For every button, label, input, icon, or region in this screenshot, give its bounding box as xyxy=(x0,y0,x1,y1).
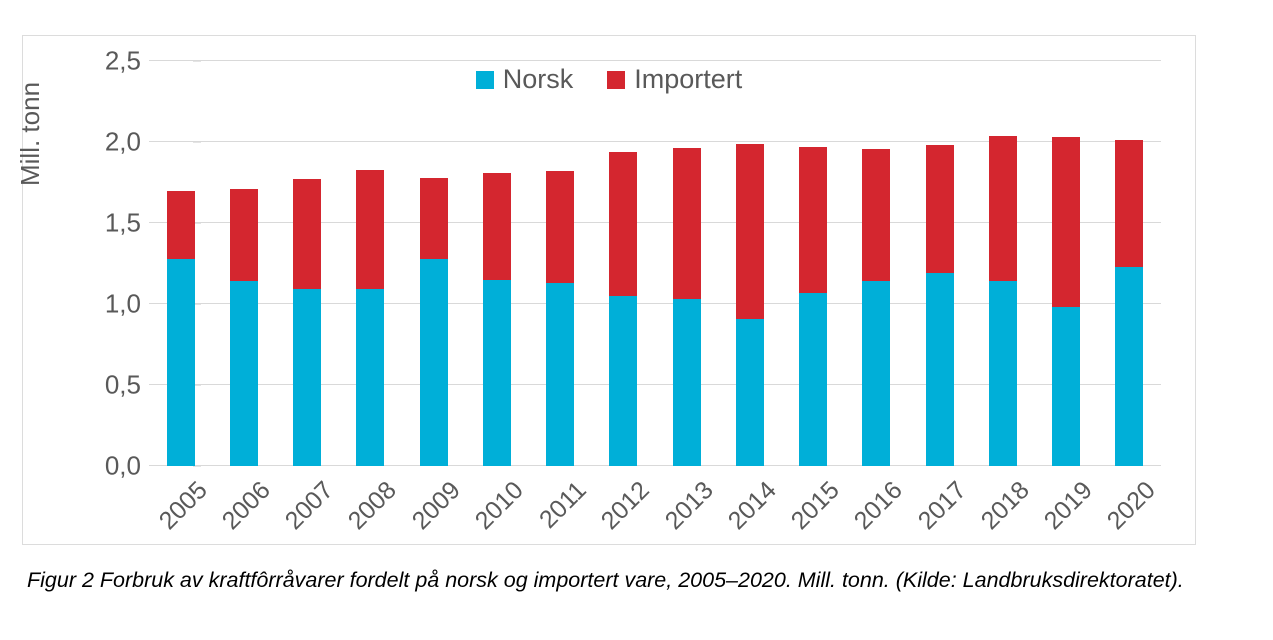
bar-segment-importert-2007[interactable] xyxy=(293,179,321,289)
x-tick-label-2015: 2015 xyxy=(786,476,846,536)
bar-group-2015[interactable] xyxy=(799,147,827,466)
y-axis-title: Mill. tonn xyxy=(15,82,46,186)
bar-group-2019[interactable] xyxy=(1052,137,1080,466)
bar-group-2007[interactable] xyxy=(293,179,321,466)
x-tick-label-2008: 2008 xyxy=(343,476,403,536)
x-tick-label-2014: 2014 xyxy=(723,476,783,536)
bar-segment-norsk-2011[interactable] xyxy=(546,283,574,466)
x-tick-label-2011: 2011 xyxy=(534,476,593,535)
x-tick-label-2020: 2020 xyxy=(1102,476,1162,536)
bar-segment-importert-2008[interactable] xyxy=(356,170,384,290)
x-tick-label-2007: 2007 xyxy=(280,476,340,536)
x-tick-label-2013: 2013 xyxy=(659,476,719,536)
bar-segment-norsk-2006[interactable] xyxy=(230,281,258,466)
bar-segment-importert-2010[interactable] xyxy=(483,173,511,280)
bar-segment-importert-2019[interactable] xyxy=(1052,137,1080,307)
x-tick-label-2018: 2018 xyxy=(976,476,1036,536)
bar-group-2005[interactable] xyxy=(167,191,195,466)
bar-group-2017[interactable] xyxy=(926,145,954,466)
bar-group-2006[interactable] xyxy=(230,189,258,466)
bar-segment-norsk-2012[interactable] xyxy=(609,296,637,466)
y-tick-label-0: 0,0 xyxy=(81,451,141,482)
x-tick-label-2010: 2010 xyxy=(470,476,530,536)
bar-segment-importert-2009[interactable] xyxy=(420,178,448,259)
bar-segment-norsk-2016[interactable] xyxy=(862,281,890,466)
y-tick-label-2: 1,0 xyxy=(81,289,141,320)
bar-segment-importert-2011[interactable] xyxy=(546,171,574,283)
x-tick-label-2006: 2006 xyxy=(217,476,277,536)
bar-segment-importert-2014[interactable] xyxy=(736,144,764,319)
bar-segment-importert-2006[interactable] xyxy=(230,189,258,281)
bar-segment-importert-2013[interactable] xyxy=(673,148,701,299)
bar-group-2012[interactable] xyxy=(609,152,637,466)
bar-segment-importert-2015[interactable] xyxy=(799,147,827,293)
bar-segment-norsk-2008[interactable] xyxy=(356,289,384,466)
y-axis-ticks: 0,00,51,01,52,02,5 xyxy=(75,61,141,466)
x-tick-label-2009: 2009 xyxy=(406,476,466,536)
figure-container: Norsk Importert Mill. tonn 0,00,51,01,52… xyxy=(0,0,1273,640)
gridline-2-5 xyxy=(149,60,1161,61)
bar-segment-norsk-2013[interactable] xyxy=(673,299,701,466)
bar-segment-norsk-2010[interactable] xyxy=(483,280,511,466)
bar-group-2016[interactable] xyxy=(862,149,890,467)
bar-segment-importert-2012[interactable] xyxy=(609,152,637,296)
bar-segment-importert-2020[interactable] xyxy=(1115,140,1143,266)
bar-segment-norsk-2009[interactable] xyxy=(420,259,448,466)
y-tick-label-5: 2,5 xyxy=(81,46,141,77)
bar-group-2020[interactable] xyxy=(1115,140,1143,466)
bar-group-2011[interactable] xyxy=(546,171,574,466)
bar-segment-importert-2005[interactable] xyxy=(167,191,195,259)
plot-area xyxy=(149,61,1161,466)
bar-segment-norsk-2019[interactable] xyxy=(1052,307,1080,466)
bar-segment-norsk-2020[interactable] xyxy=(1115,267,1143,466)
bar-segment-norsk-2018[interactable] xyxy=(989,281,1017,466)
bar-group-2018[interactable] xyxy=(989,136,1017,466)
y-tick-label-4: 2,0 xyxy=(81,127,141,158)
bar-group-2014[interactable] xyxy=(736,144,764,466)
x-tick-label-2016: 2016 xyxy=(849,476,909,536)
y-tick-label-1: 0,5 xyxy=(81,370,141,401)
bar-segment-norsk-2014[interactable] xyxy=(736,319,764,466)
chart-frame: Norsk Importert Mill. tonn 0,00,51,01,52… xyxy=(22,35,1196,545)
bar-segment-norsk-2017[interactable] xyxy=(926,273,954,466)
bar-segment-norsk-2005[interactable] xyxy=(167,259,195,466)
bar-group-2009[interactable] xyxy=(420,178,448,466)
bar-group-2010[interactable] xyxy=(483,173,511,466)
x-tick-label-2017: 2017 xyxy=(912,476,972,536)
x-axis-ticks: 2005200620072008200920102011201220132014… xyxy=(149,468,1161,548)
y-tick-label-3: 1,5 xyxy=(81,208,141,239)
x-tick-label-2005: 2005 xyxy=(153,476,213,536)
bar-segment-importert-2018[interactable] xyxy=(989,136,1017,282)
x-tick-label-2019: 2019 xyxy=(1039,476,1099,536)
bar-group-2008[interactable] xyxy=(356,170,384,466)
bar-segment-importert-2017[interactable] xyxy=(926,145,954,273)
bar-segment-norsk-2007[interactable] xyxy=(293,289,321,466)
bar-group-2013[interactable] xyxy=(673,148,701,466)
bar-segment-importert-2016[interactable] xyxy=(862,149,890,282)
x-tick-label-2012: 2012 xyxy=(596,476,656,536)
bar-segment-norsk-2015[interactable] xyxy=(799,293,827,466)
figure-caption: Figur 2 Forbruk av kraftfôrråvarer forde… xyxy=(27,565,1199,595)
